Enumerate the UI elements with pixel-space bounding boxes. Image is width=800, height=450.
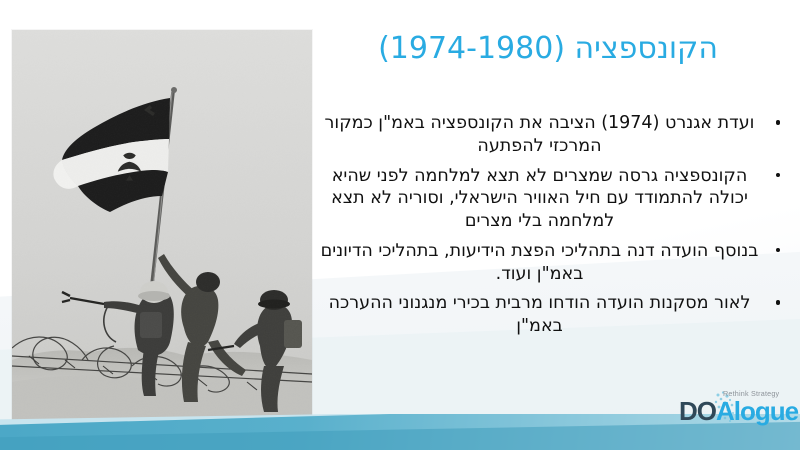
company-logo: Rethink Strategy DOAlogue [676, 388, 794, 430]
logo-word-alogue: Alogue [716, 396, 798, 426]
bullet-item: הקונספציה גרסה שמצרים לא תצא למלחמה לפני… [312, 165, 782, 233]
bullet-dot-icon [776, 173, 781, 178]
bullet-text: הקונספציה גרסה שמצרים לא תצא למלחמה לפני… [331, 166, 748, 232]
bullet-item: ועדת אגנרט (1974) הציבה את הקונספציה באמ… [312, 112, 782, 158]
bullet-dot-icon [776, 248, 781, 253]
bullet-dot-icon [776, 120, 781, 125]
bullet-text: בנוסף הועדה דנה בתהליכי הפצת הידיעות, בת… [321, 241, 759, 284]
slide-body: ועדת אגנרט (1974) הציבה את הקונספציה באמ… [312, 112, 782, 345]
bullet-dot-icon [776, 300, 781, 305]
logo-word-do: DO [679, 396, 716, 426]
bullet-item: לאור מסקנות הועדה הודחו מרבית בכירי מנגנ… [312, 292, 782, 338]
logo-wordmark: DOAlogue [679, 396, 798, 427]
slide-title: הקונספציה (1974-1980) [320, 32, 776, 66]
bullet-text: לאור מסקנות הועדה הודחו מרבית בכירי מנגנ… [329, 293, 751, 336]
historical-photo [12, 30, 312, 425]
presentation-slide: הקונספציה (1974-1980) ועדת אגנרט (1974) … [0, 0, 800, 450]
bullet-item: בנוסף הועדה דנה בתהליכי הפצת הידיעות, בת… [312, 240, 782, 286]
bullet-list: ועדת אגנרט (1974) הציבה את הקונספציה באמ… [312, 112, 782, 338]
bullet-text: ועדת אגנרט (1974) הציבה את הקונספציה באמ… [325, 113, 755, 156]
